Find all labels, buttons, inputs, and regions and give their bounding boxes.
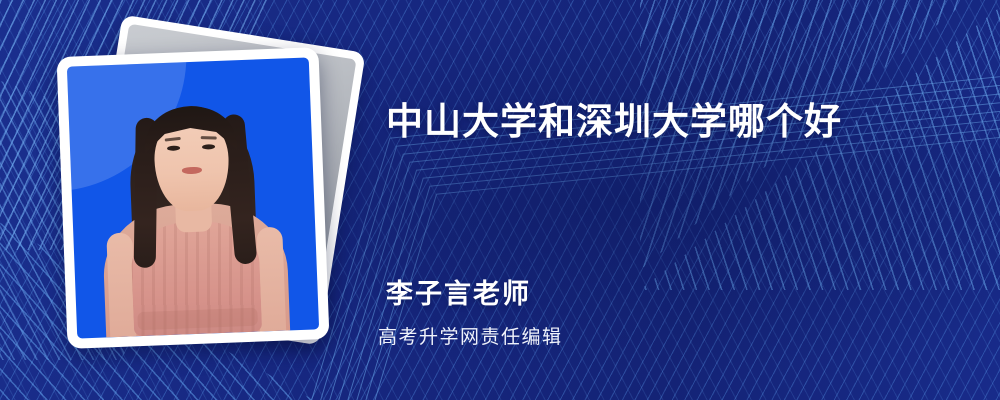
page-title: 中山大学和深圳大学哪个好 (386, 100, 842, 144)
avatar (67, 57, 319, 338)
author-role: 高考升学网责任编辑 (378, 322, 563, 349)
portrait-eyebrow-right (201, 136, 217, 140)
article-hero-banner: 中山大学和深圳大学哪个好 李子言老师 高考升学网责任编辑 (0, 0, 1000, 400)
author-photo-stack (62, 36, 342, 336)
author-name: 李子言老师 (386, 272, 531, 311)
photo-card-front-icon (56, 47, 329, 349)
portrait-illustration (67, 57, 319, 338)
